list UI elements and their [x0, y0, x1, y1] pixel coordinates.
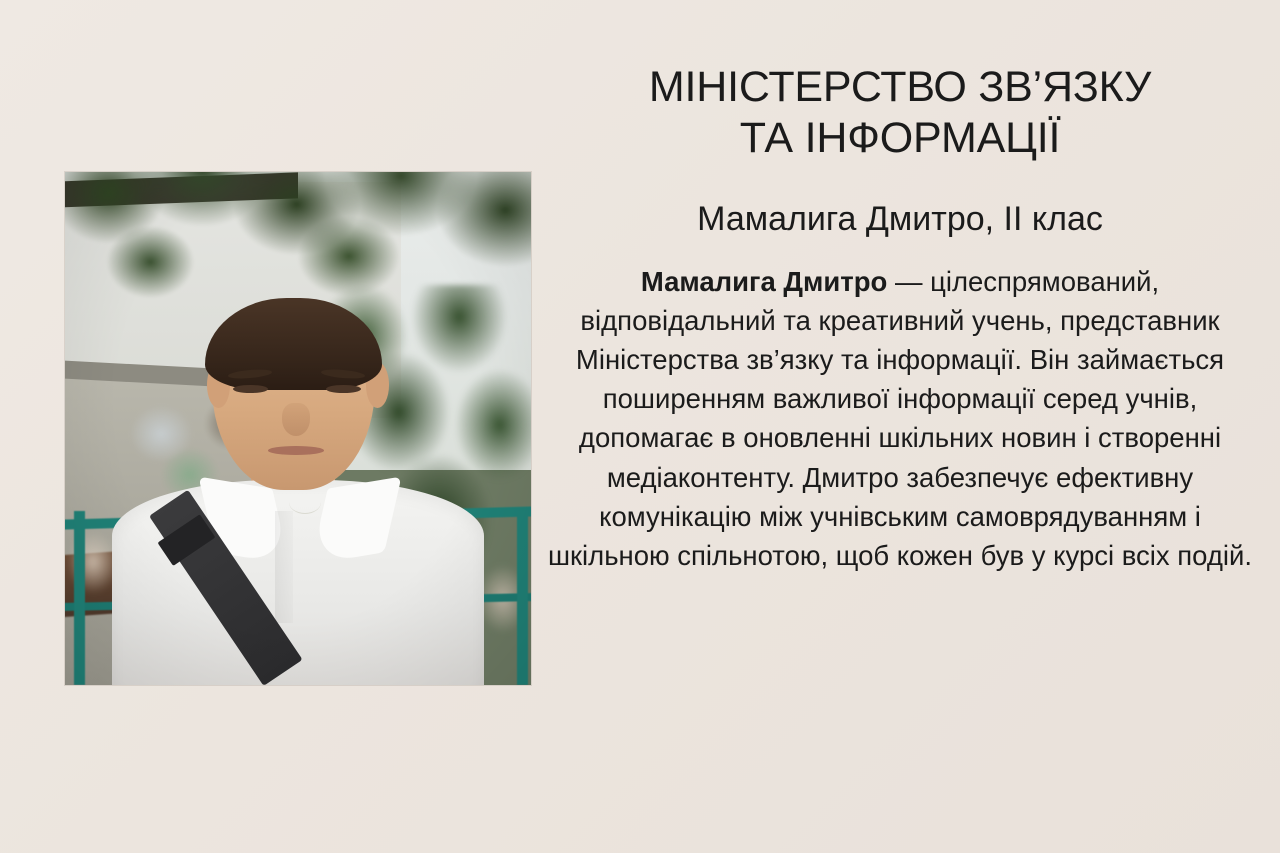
body-rest-text: — цілеспрямований, відповідальний та кре… — [548, 266, 1252, 570]
text-column: МІНІСТЕРСТВО ЗВ’ЯЗКУ ТА ІНФОРМАЦІЇ Мамал… — [540, 0, 1260, 853]
slide-subtitle: Мамалига Дмитро, ІІ клас — [540, 163, 1260, 240]
slide-root: МІНІСТЕРСТВО ЗВ’ЯЗКУ ТА ІНФОРМАЦІЇ Мамал… — [0, 0, 1280, 853]
slide-body-paragraph: Мамалига Дмитро — цілеспрямований, відпо… — [540, 240, 1260, 574]
student-photo — [65, 172, 531, 685]
photo-vignette — [65, 172, 531, 685]
body-lead-name: Мамалига Дмитро — [641, 266, 887, 297]
photo-canvas — [65, 172, 531, 685]
slide-title: МІНІСТЕРСТВО ЗВ’ЯЗКУ ТА ІНФОРМАЦІЇ — [540, 0, 1260, 163]
